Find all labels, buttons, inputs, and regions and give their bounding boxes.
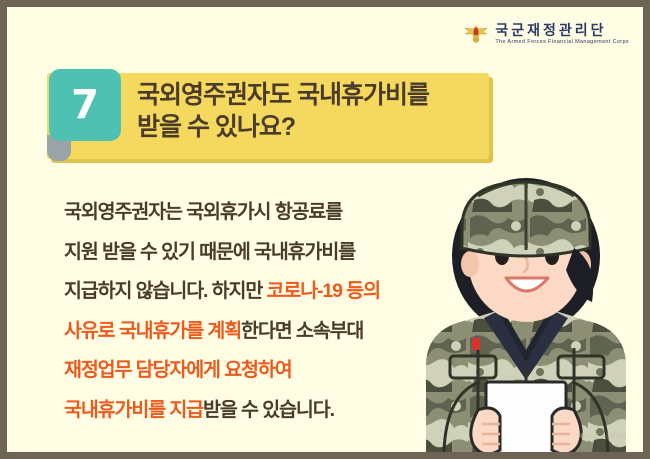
organization-logo: 국군재정관리단 The Armed Forces Financial Manag…: [463, 23, 629, 46]
logo-text-block: 국군재정관리단 The Armed Forces Financial Manag…: [495, 23, 629, 46]
page-title-line-2: 받을 수 있나요?: [137, 111, 487, 143]
body-segment-3-2: 코로나-19 등의: [267, 280, 380, 302]
military-eagle-emblem-icon: [463, 23, 489, 45]
body-segment-6-2: 받을 수 있습니다.: [203, 399, 334, 421]
body-segment-6-1: 국내휴가비를 지급: [64, 399, 203, 421]
body-segment-2-1: 지원 받을 수 있기 때문에 국내휴가비를: [64, 241, 355, 263]
body-segment-4-2: 한다면 소속부대: [241, 320, 363, 342]
body-line-4: 사유로 국내휴가를 계획한다면 소속부대: [64, 312, 484, 352]
body-line-3: 지급하지 않습니다. 하지만 코로나-19 등의: [64, 272, 484, 312]
illustration-credit: 제작지원 국군인쇄창: [578, 432, 627, 440]
body-line-1: 국외영주권자는 국외휴가시 항공료를: [64, 193, 484, 233]
body-line-2: 지원 받을 수 있기 때문에 국내휴가비를: [64, 233, 484, 273]
body-line-6: 국내휴가비를 지급받을 수 있습니다.: [64, 391, 484, 431]
logo-title-korean: 국군재정관리단: [495, 23, 629, 37]
body-segment-5-1: 재정업무 담당자에게 요청하여: [64, 359, 292, 381]
body-segment-3-1: 지급하지 않습니다. 하지만: [64, 280, 267, 302]
page-title: 국외영주권자도 국내휴가비를 받을 수 있나요?: [137, 79, 487, 143]
infographic-card: 국군재정관리단 The Armed Forces Financial Manag…: [0, 0, 650, 459]
question-number-badge: 7: [49, 69, 121, 141]
body-line-5: 재정업무 담당자에게 요청하여: [64, 351, 484, 391]
page-title-line-1: 국외영주권자도 국내휴가비를: [137, 81, 429, 109]
question-number: 7: [71, 85, 99, 125]
body-segment-1-1: 국외영주권자는 국외휴가시 항공료를: [64, 201, 342, 223]
logo-subtitle-english: The Armed Forces Financial Management Co…: [495, 40, 629, 46]
body-segment-4-1: 사유로 국내휴가를 계획: [64, 320, 241, 342]
body-text: 국외영주권자는 국외휴가시 항공료를 지원 받을 수 있기 때문에 국내휴가비를…: [64, 193, 484, 430]
